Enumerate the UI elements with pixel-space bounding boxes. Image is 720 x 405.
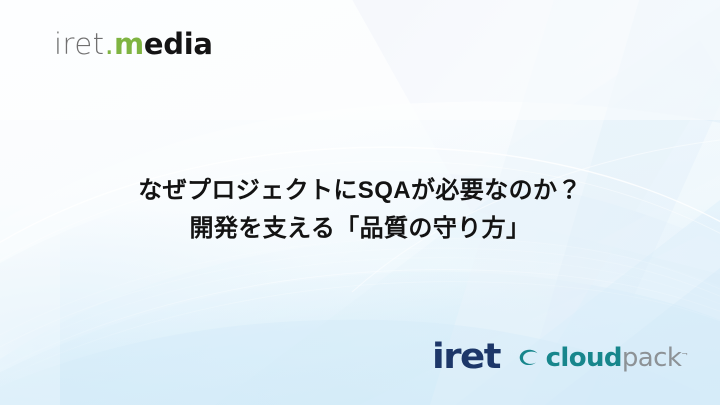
logo-text-m: m <box>114 27 144 61</box>
cloud-swoosh-icon <box>517 346 541 370</box>
iret-wordmark[interactable]: iret <box>432 340 500 375</box>
cloudpack-text-pack: pack <box>622 343 681 373</box>
cloudpack-logo[interactable]: cloudpack¬ <box>517 345 688 371</box>
title-line-1: なぜプロジェクトにSQAが必要なのか？ <box>0 172 720 210</box>
logo-text-edia: edia <box>144 27 213 61</box>
iret-media-logo[interactable]: iret.media <box>54 30 213 59</box>
article-thumbnail-slide: iret.media なぜプロジェクトにSQAが必要なのか？ 開発を支える「品質… <box>0 0 720 405</box>
logo-text-iret: iret <box>54 27 105 61</box>
slide-title: なぜプロジェクトにSQAが必要なのか？ 開発を支える「品質の守り方」 <box>0 172 720 248</box>
title-line-2: 開発を支える「品質の守り方」 <box>0 210 720 248</box>
cloudpack-wordmark: cloudpack¬ <box>546 345 688 371</box>
cloudpack-trademark: ¬ <box>681 349 688 358</box>
footer-logo-group: iret cloudpack¬ <box>432 340 688 375</box>
logo-text-dot: . <box>105 27 114 61</box>
cloudpack-text-cloud: cloud <box>546 343 622 373</box>
